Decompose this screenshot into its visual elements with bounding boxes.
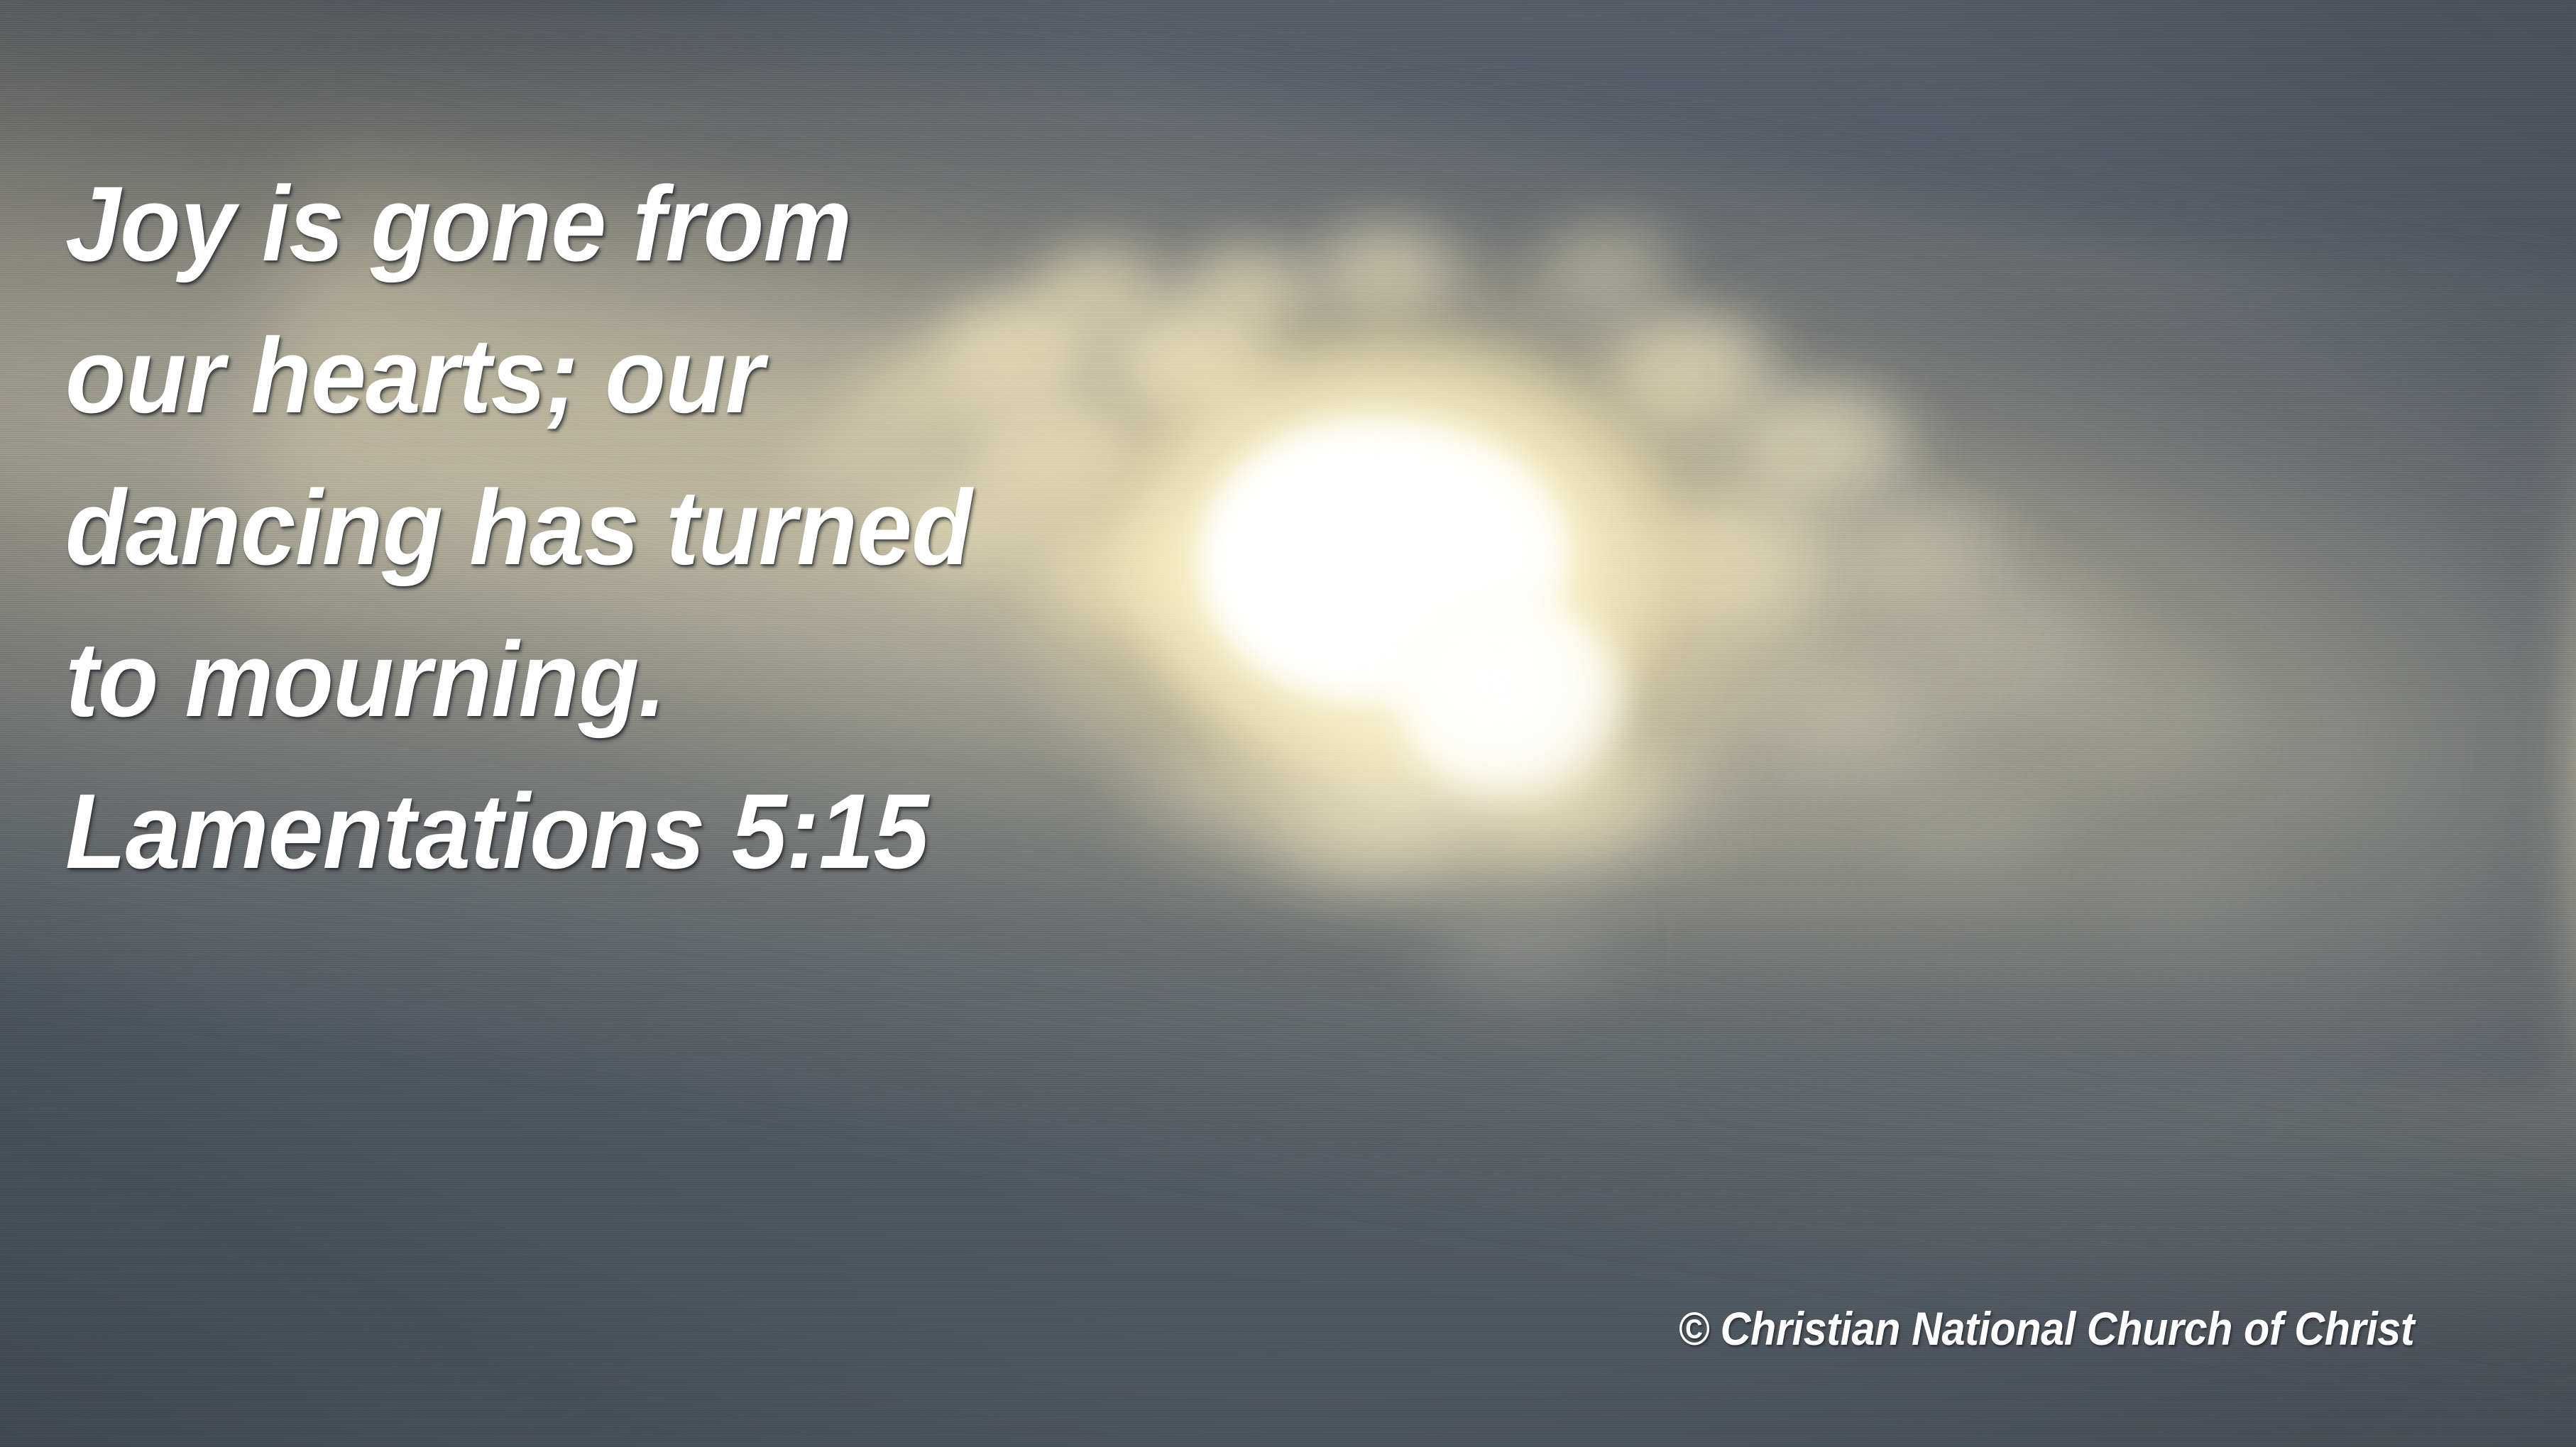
verse-line-4: to mourning.: [65, 603, 1141, 755]
cloud-fade-right: [1700, 290, 2576, 1100]
verse-line-3: dancing has turned: [65, 451, 1141, 603]
verse-line-1: Joy is gone from: [65, 148, 1141, 299]
copyright-credit: © Christian National Church of Christ: [1678, 1302, 2414, 1355]
verse-text-block: Joy is gone from our hearts; our dancing…: [65, 148, 1215, 907]
scripture-image-canvas: Joy is gone from our hearts; our dancing…: [0, 0, 2576, 1447]
verse-reference: Lamentations 5:15: [65, 755, 1141, 907]
sun-core-lobe: [1395, 596, 1629, 802]
verse-line-2: our hearts; our: [65, 299, 1141, 451]
